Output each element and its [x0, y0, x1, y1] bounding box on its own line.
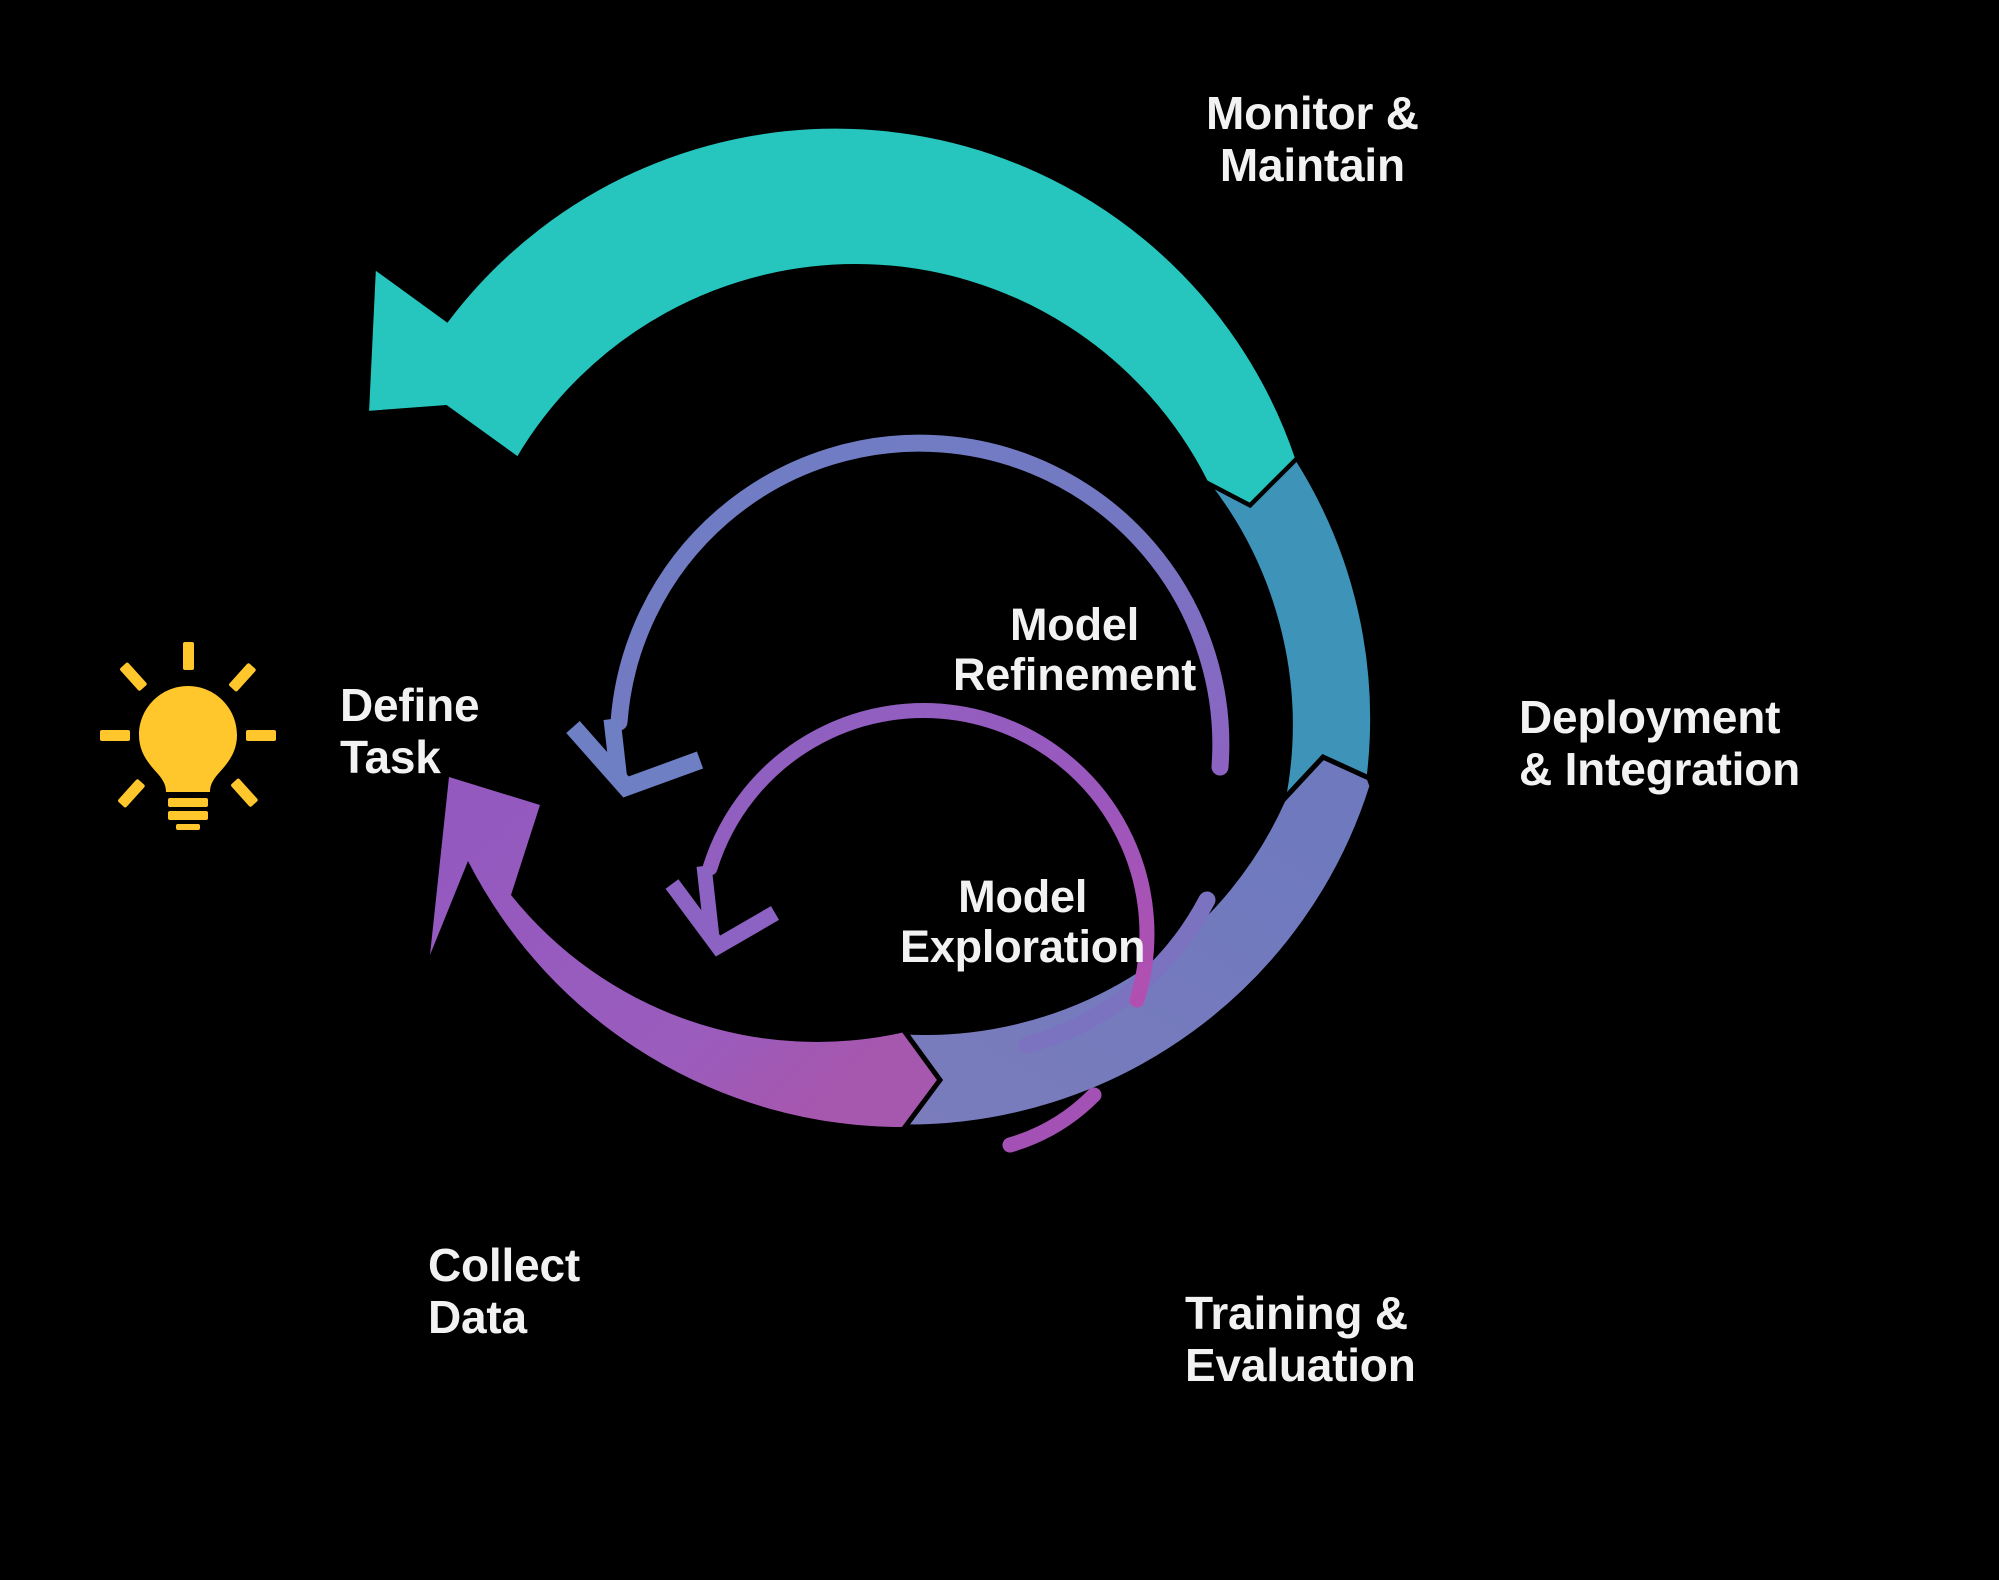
diagram-canvas: Monitor & Maintain Deployment & Integrat…	[0, 0, 1999, 1580]
lightbulb-icon	[98, 640, 278, 830]
stage-label-deployment-integration: Deployment & Integration	[1519, 692, 1800, 795]
outer-segment-collect-data[interactable]	[430, 777, 940, 1127]
stage-label-monitor-maintain: Monitor & Maintain	[1206, 88, 1419, 191]
inner-loop-label-model-exploration: Model Exploration	[900, 872, 1145, 973]
outer-segment-deployment-integration[interactable]	[1206, 458, 1373, 800]
stage-label-collect-data: Collect Data	[428, 1240, 580, 1343]
inner-loop-label-model-refinement: Model Refinement	[953, 600, 1196, 701]
stage-label-define-task: Define Task	[340, 680, 479, 783]
stage-label-training-evaluation: Training & Evaluation	[1185, 1288, 1416, 1391]
